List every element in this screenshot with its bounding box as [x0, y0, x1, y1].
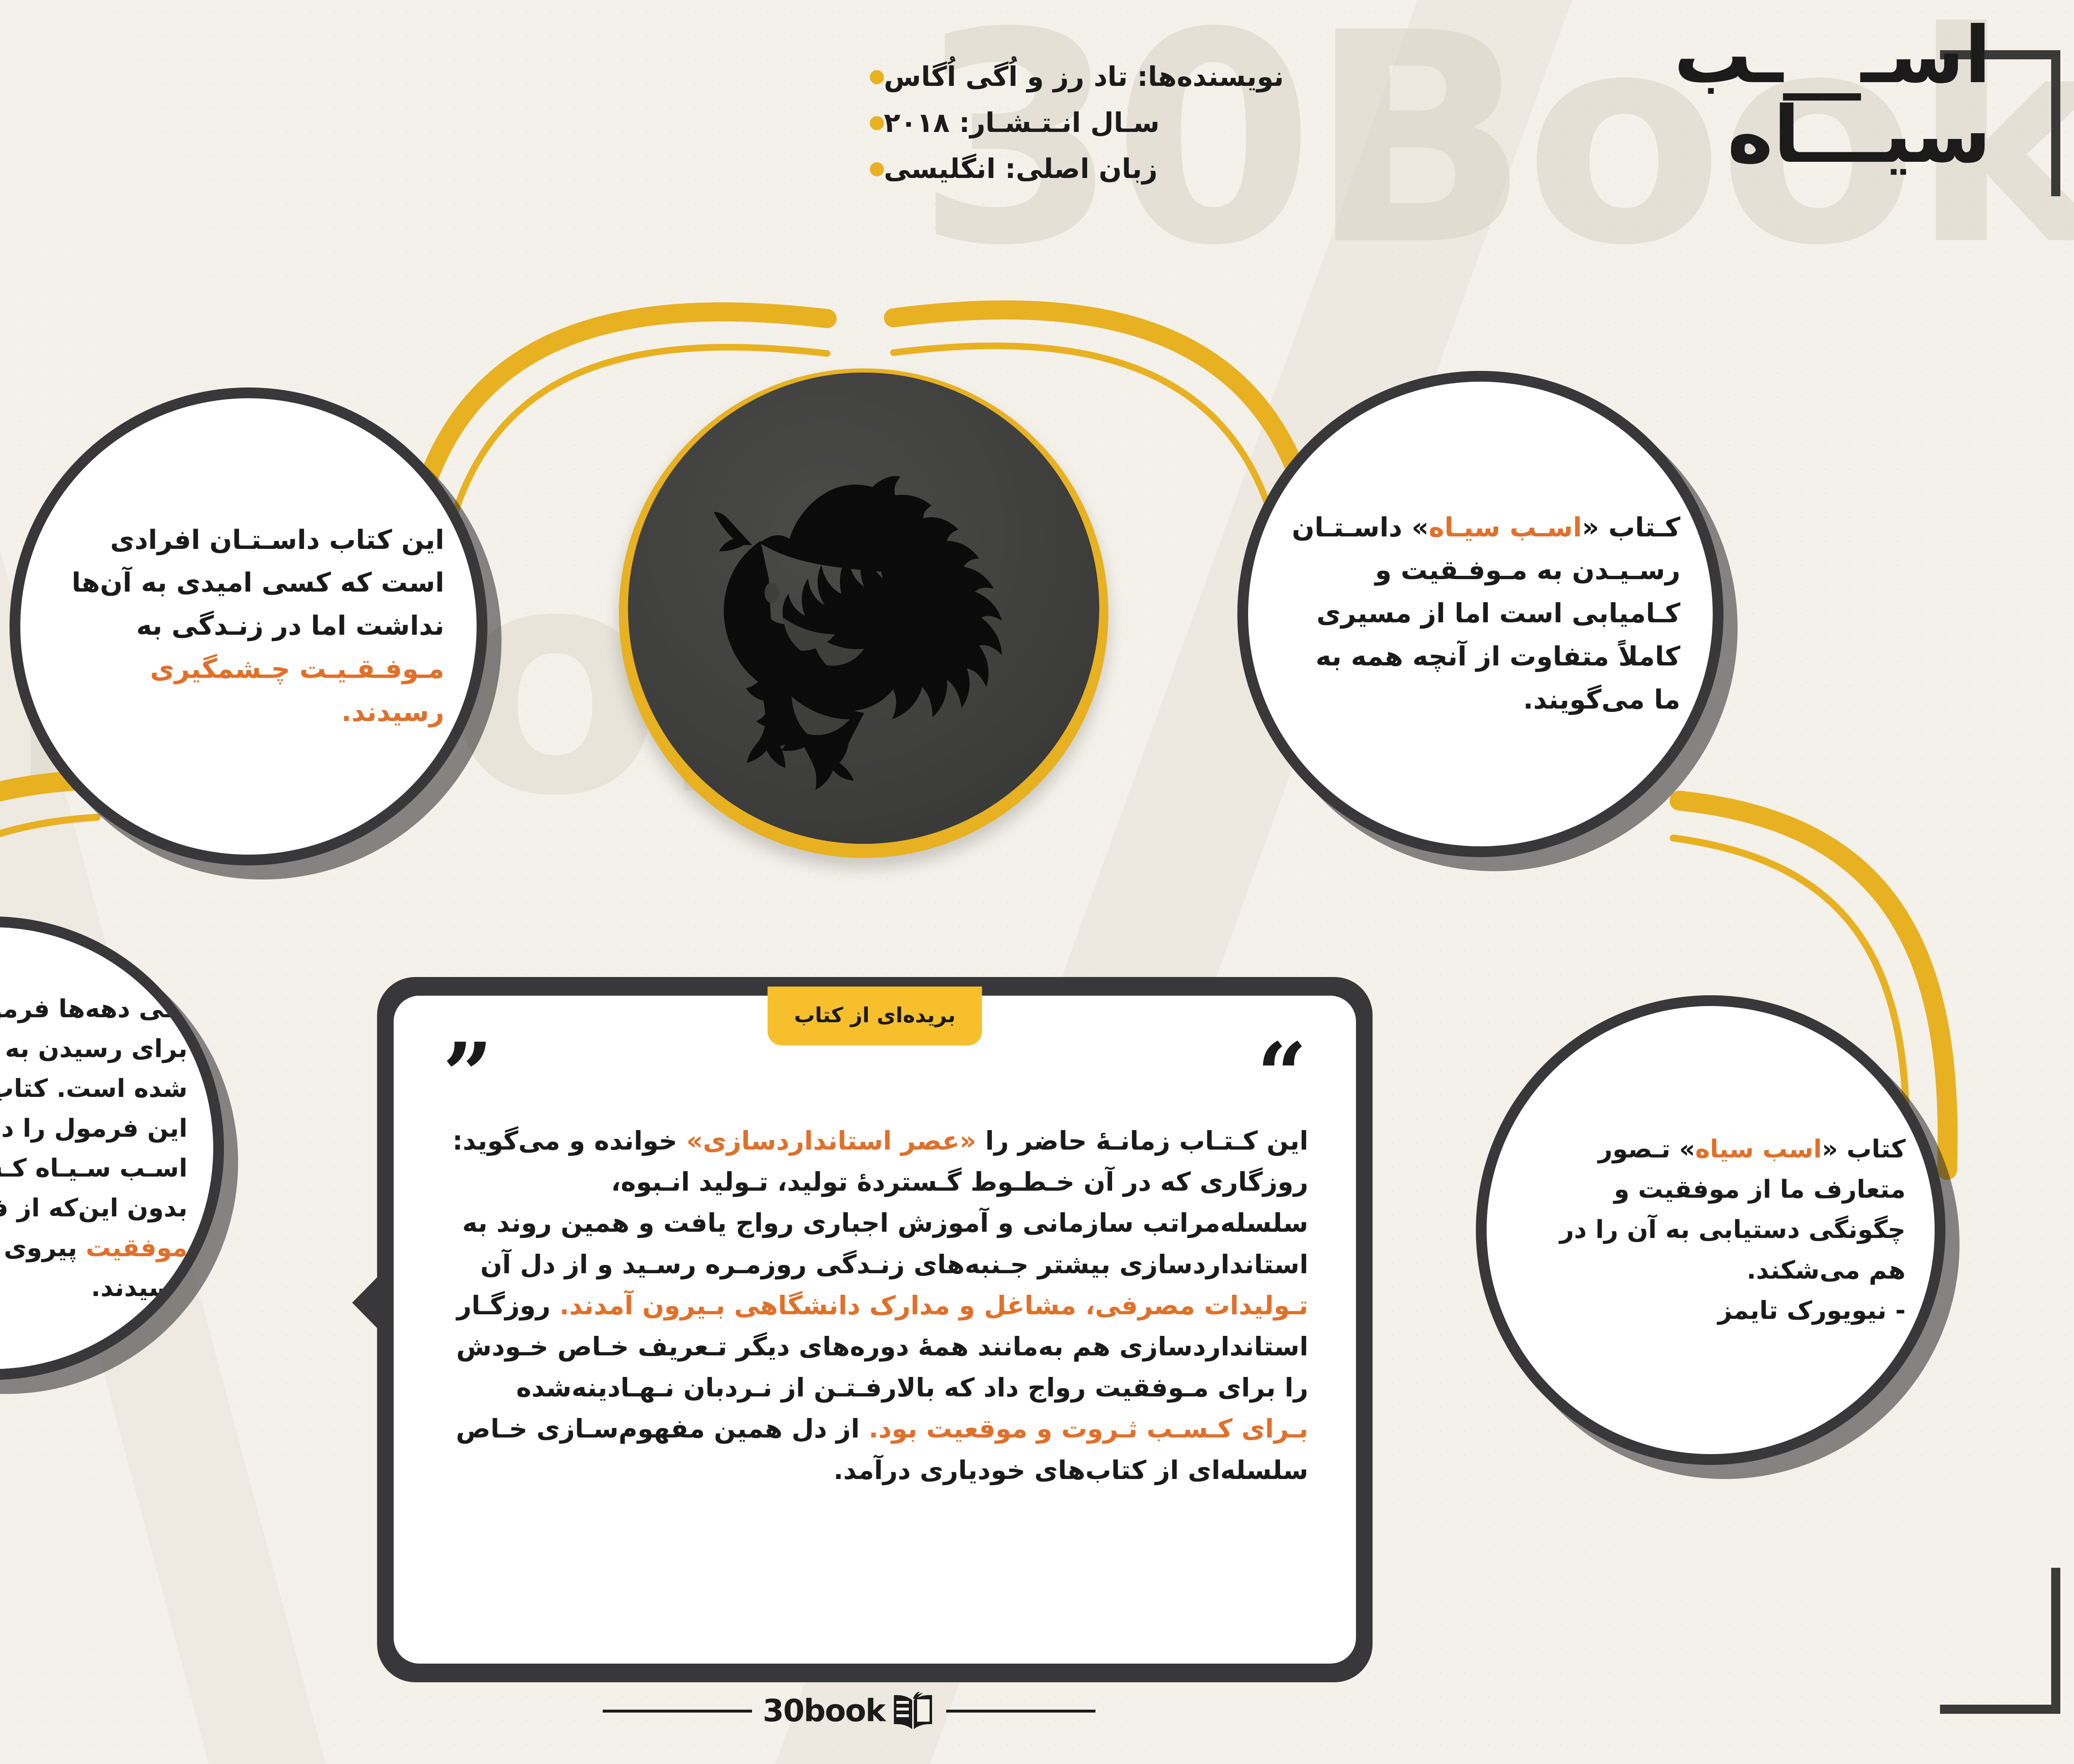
text-plain: کـتاب « [1582, 512, 1680, 543]
info-circle-bottom-right-text: کتاب «اسب سیاه» تـصور متعارف ما از موفقی… [1487, 1129, 1935, 1331]
text-plain-2: این فرمول را درهم می‌شکند. اسـب سـیـاه ک… [0, 1114, 187, 1223]
info-circle-bottom-left-text: طی دهه‌ها فرمول استانداردی برای رسیدن به… [0, 989, 213, 1308]
info-circle-top-right-text: کـتاب «اسـب سیـاه» داسـتـان رسـیـدن به م… [1248, 507, 1713, 721]
quote-highlight-3: بـرای کـسـب ثـروت و موقعیت بود. [869, 1413, 1308, 1444]
open-book-icon [891, 1692, 935, 1730]
meta-item-year: سـال انـتـشـار: ۲۰۱۸ [857, 107, 1284, 139]
meta-item-label: نویسنده‌ها: تاد رز و اُگی اُگاس [884, 61, 1284, 93]
book-meta-list: نویسنده‌ها: تاد رز و اُگی اُگاس سـال انـ… [857, 61, 1284, 200]
meta-item-label: سـال انـتـشـار: ۲۰۱۸ [884, 107, 1160, 139]
meta-item-language: زبان اصلی: انگلیسی [857, 153, 1284, 185]
text-plain: طی دهه‌ها فرمول استانداردی برای رسیدن به… [0, 994, 187, 1103]
title-line-2: سیـــاه [1674, 95, 1991, 175]
bullet-dot-icon [870, 162, 884, 176]
info-circle-top-left-text: این کتاب داسـتـان افرادی است که کسی امید… [20, 519, 477, 734]
quote-text: این کـتـاب زمانـۀ حاضر را «عصر استاندارد… [441, 1120, 1308, 1491]
hero-horse-medallion [619, 368, 1108, 858]
text-plain: کتاب « [1822, 1135, 1906, 1164]
info-circle-top-right: کـتاب «اسـب سیـاه» داسـتـان رسـیـدن به م… [1248, 382, 1713, 846]
quote-card-notch [352, 1257, 397, 1348]
quote-mark-open-icon: “ [1257, 1049, 1307, 1101]
info-circle-top-left: این کتاب داسـتـان افرادی است که کسی امید… [20, 398, 477, 855]
footer-divider-right [603, 1710, 752, 1713]
quote-highlight-2: تـولیدات مصرفی، مشاغل و مدارک دانشگاهی ب… [560, 1290, 1308, 1321]
footer: 30book [0, 1692, 2074, 1730]
info-circle-bottom-right: کتاب «اسب سیاه» تـصور متعارف ما از موفقی… [1487, 1006, 1935, 1454]
bullet-dot-icon [870, 116, 884, 130]
bullet-dot-icon [870, 70, 884, 84]
footer-divider-left [946, 1710, 1095, 1713]
quote-highlight-1: «عصر استانداردسازی» [686, 1126, 976, 1156]
quote-card: بریده‌ای از کتاب “ ” این کـتـاب زمانـۀ ح… [394, 996, 1356, 1664]
quote-mark-close-icon: ” [443, 1049, 493, 1101]
quote-part-1: این کـتـاب زمانـۀ حاضر را [976, 1126, 1308, 1156]
meta-item-label: زبان اصلی: انگلیسی [884, 153, 1158, 185]
brand-name: 30book [763, 1693, 885, 1729]
text-highlight: اسـب سیـاه [1429, 512, 1582, 543]
text-highlight: مـوفـقـیـت چـشمگیری رسیدند. [150, 654, 444, 728]
meta-item-authors: نویسنده‌ها: تاد رز و اُگی اُگاس [857, 61, 1284, 93]
title-line-1: اسـ__ـب [1674, 16, 1991, 95]
infographic-canvas: 30Book 30Book اسـ__ـب سیـــاه نویسنده‌ها… [0, 0, 2074, 1764]
text-plain: این کتاب داسـتـان افرادی است که کسی امید… [72, 525, 444, 641]
text-highlight: اسب سیاه [1695, 1135, 1822, 1164]
quote-badge: بریده‌ای از کتاب [767, 987, 982, 1045]
black-horse-silhouette-icon [656, 410, 1080, 825]
page-title: اسـ__ـب سیـــاه [1674, 16, 1991, 175]
quote-source: - نیویورک تایمز [1718, 1296, 1906, 1325]
brand-logo: 30book [763, 1692, 936, 1730]
horse-disc [628, 373, 1099, 844]
